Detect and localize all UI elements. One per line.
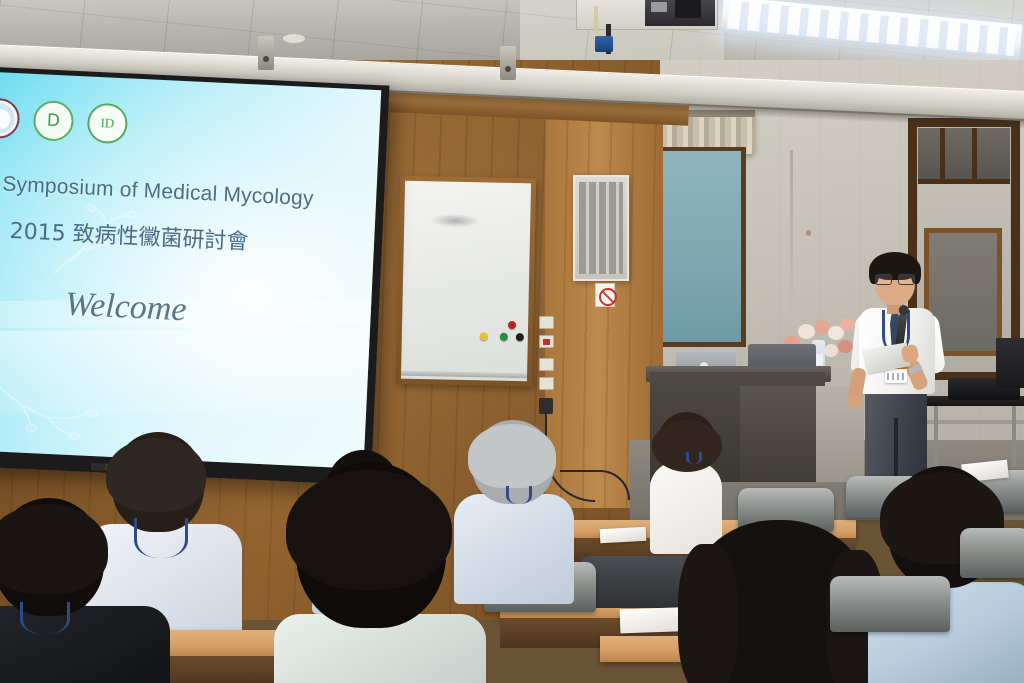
id-society-logo-label: ID <box>89 105 127 143</box>
slide-title-english: 2015 Symposium of Medical Mycology <box>0 169 347 213</box>
id-society-logo: ID <box>86 103 128 145</box>
ceiling-projector <box>645 0 715 26</box>
chair-front-far-right[interactable] <box>960 528 1024 578</box>
magnet-green[interactable] <box>500 333 508 341</box>
magnet-yellow[interactable] <box>480 332 488 340</box>
no-entry-sign <box>595 283 615 307</box>
name-badge-text <box>887 373 905 380</box>
slide-band <box>0 329 381 415</box>
whiteboard-smudge <box>430 213 480 228</box>
smoke-detector-secondary <box>283 34 305 43</box>
presenter-hand-left <box>847 396 862 409</box>
vga-connector <box>595 36 613 52</box>
light-switch-1[interactable] <box>539 316 554 329</box>
podium-front-panel <box>740 386 822 482</box>
green-circle-logo <box>33 100 75 142</box>
magnet-black[interactable] <box>516 333 524 341</box>
slide-logo-row: ID <box>0 95 128 144</box>
cdc-logo <box>0 97 20 139</box>
wall-vent-grille <box>573 175 629 281</box>
conference-room-photo: ID 2015 Symposium of Medical Mycology 20… <box>0 0 1024 683</box>
whiteboard-frame <box>396 176 536 387</box>
light-switch-3[interactable] <box>539 377 554 390</box>
presenter <box>845 250 955 480</box>
slide-surface: ID 2015 Symposium of Medical Mycology 20… <box>0 69 381 469</box>
light-switch-indicator[interactable] <box>539 335 554 348</box>
screen-bracket-left <box>258 36 274 70</box>
wall-mark <box>806 230 811 236</box>
light-switch-2[interactable] <box>539 358 554 371</box>
eyeglasses <box>875 274 915 283</box>
transom-window <box>918 128 1010 184</box>
attendee-front-left <box>0 498 170 683</box>
monitor <box>996 338 1024 388</box>
notebook-papers-back[interactable] <box>600 527 647 543</box>
attendee-long-hair <box>262 462 492 683</box>
screen-bracket-right <box>500 46 516 80</box>
side-table-leg-right <box>1012 406 1016 466</box>
slide-welcome-text: Welcome <box>0 278 341 336</box>
slide-title-chinese: 2015 致病性黴菌研討會 <box>0 208 345 260</box>
whiteboard[interactable] <box>401 181 531 382</box>
whiteboard-marker-tray <box>401 371 527 379</box>
projection-screen: ID 2015 Symposium of Medical Mycology 20… <box>0 64 389 485</box>
magnet-red[interactable] <box>508 321 516 329</box>
chair-front-right[interactable] <box>830 576 950 632</box>
wall-stain <box>790 150 793 320</box>
